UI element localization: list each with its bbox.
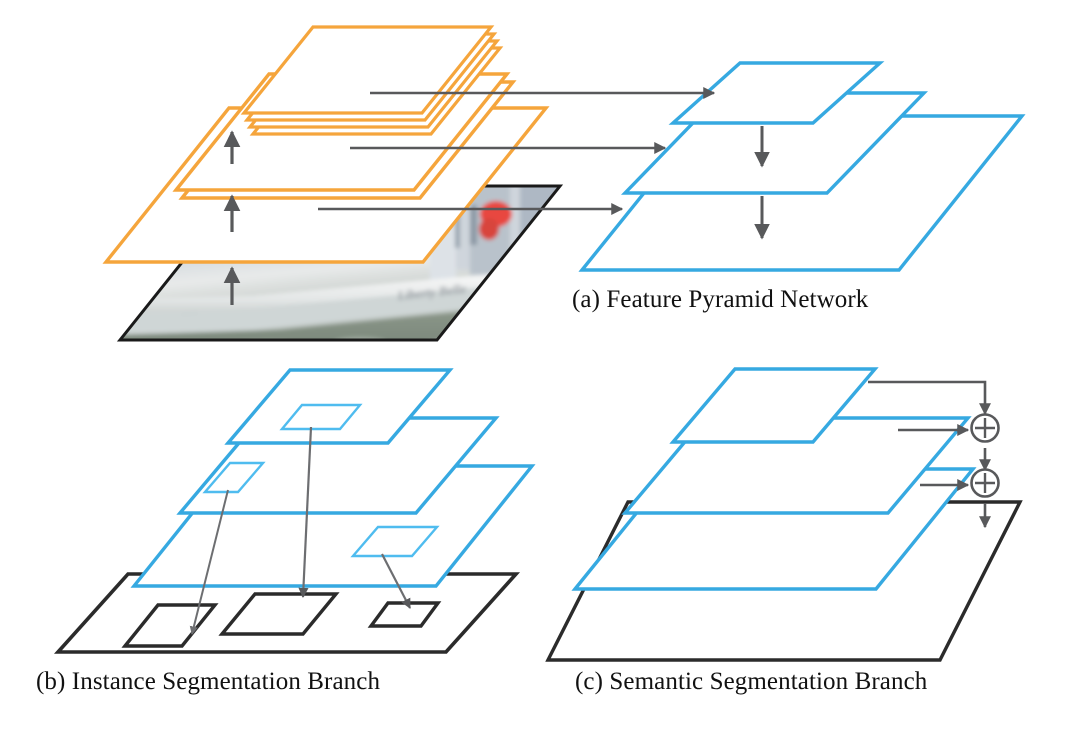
panel-a: Liberty Belle . . .: [70, 27, 1022, 392]
svg-text:. . .: . . .: [182, 304, 197, 317]
caption-panel-c: (c) Semantic Segmentation Branch: [575, 668, 927, 696]
figure-canvas: Liberty Belle . . .: [0, 0, 1082, 731]
sum-node-1: [972, 415, 999, 442]
sum-node-2: [972, 470, 999, 497]
panel-c: [548, 369, 1020, 660]
caption-panel-b: (b) Instance Segmentation Branch: [36, 668, 380, 696]
figure-root: Liberty Belle . . .: [0, 0, 1082, 731]
semantic-route-top: [868, 382, 985, 414]
caption-panel-a: (a) Feature Pyramid Network: [572, 286, 868, 314]
panel-b: [58, 370, 532, 652]
